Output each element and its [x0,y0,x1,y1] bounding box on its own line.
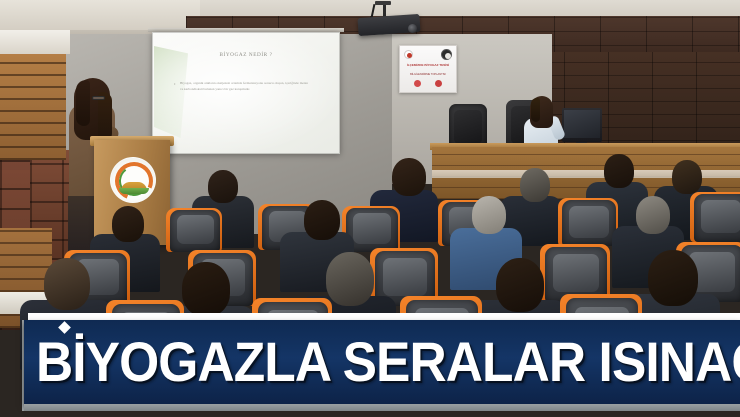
institution-logo-icon [441,49,452,60]
desk-monitor-icon [562,108,602,142]
banner-bottom-shadow-strip [24,404,740,411]
audience-chair [562,200,616,246]
speaker-hair-front [76,80,90,126]
attendee-head [672,160,702,194]
panel-woman-hair-front [531,98,540,122]
audience-chair [170,210,220,252]
attendee-head [392,158,426,196]
attendee-head [648,250,698,306]
poster-sponsor-icon-2 [435,80,442,87]
municipality-emblem-icon [110,157,156,203]
news-photo-card: BİYOGAZ NEDİR ? • Biyogaz, organik atıkl… [0,0,740,417]
attendee-head [472,196,506,234]
attendee-head [112,206,144,242]
attendee-head [520,168,550,202]
attendee-head [208,170,238,203]
attendee-head [326,252,374,306]
flag-emblem-icon [404,50,413,59]
wall-poster: İLÇEMİZDE BİYOGAZ TESİSİ BİLGİLENDİRME T… [399,45,457,93]
attendee-head [636,196,670,234]
headline-text: BİYOGAZLA SERALAR ISINACAK [36,334,740,390]
poster-line-1: İLÇEMİZDE BİYOGAZ TESİSİ [404,63,452,68]
projector-mount-bracket [375,1,391,5]
poster-line-2: BİLGİLENDİRME TOPLANTISI [404,73,452,77]
attendee-head [44,258,90,310]
attendee-head [304,200,340,240]
projector-screen-frame [152,32,340,154]
headline-banner: BİYOGAZLA SERALAR ISINACAK [24,320,740,404]
wood-slat-panel-upper [0,52,66,160]
emblem-green-base [119,188,149,194]
speaker-glasses-icon [92,96,105,100]
white-wall-band-upper [0,30,70,54]
attendee-head [604,154,634,188]
attendee-head [182,262,230,316]
poster-sponsor-icon-1 [414,80,421,87]
ceiling-slope [0,0,200,30]
audience-chair [694,194,740,242]
attendee-head [496,258,544,312]
